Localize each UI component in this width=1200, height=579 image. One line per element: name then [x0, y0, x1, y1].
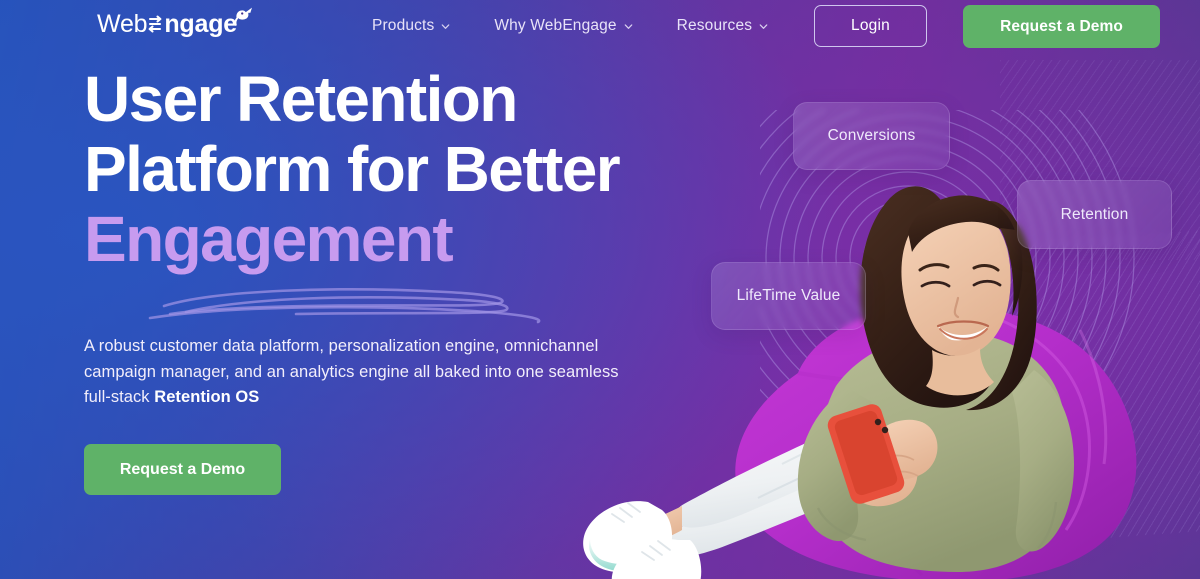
- conversions-card-label: Conversions: [828, 127, 916, 145]
- headline-line-2: Platform for Better: [84, 133, 619, 205]
- scribble-underline-decoration: [146, 282, 566, 328]
- main-navigation: Products Why WebEngage Resources: [372, 0, 768, 52]
- headline-accent-line: Engagement: [84, 204, 724, 274]
- request-demo-hero-button[interactable]: Request a Demo: [84, 444, 281, 495]
- logo-ngage-text: ngage: [164, 10, 237, 38]
- hero-subcopy: A robust customer data platform, persona…: [84, 334, 624, 411]
- headline-line-1: User Retention: [84, 63, 517, 135]
- nav-label-products: Products: [372, 17, 434, 35]
- lifetime-value-card[interactable]: LifeTime Value: [711, 262, 866, 330]
- retention-card[interactable]: Retention: [1017, 180, 1172, 249]
- chevron-down-icon: [759, 22, 768, 31]
- woman-head: [860, 186, 1037, 410]
- nav-item-why-webengage[interactable]: Why WebEngage: [494, 17, 632, 35]
- retention-card-label: Retention: [1061, 206, 1129, 224]
- webengage-logo[interactable]: Web ngage: [97, 9, 237, 39]
- logo-e-arrows-icon: [148, 13, 163, 35]
- nav-item-resources[interactable]: Resources: [677, 17, 768, 35]
- hero-section: Web ngage Products: [0, 0, 1200, 579]
- login-button[interactable]: Login: [814, 5, 927, 47]
- chevron-down-icon: [441, 22, 450, 31]
- request-demo-header-button[interactable]: Request a Demo: [963, 5, 1160, 48]
- lifetime-value-card-label: LifeTime Value: [737, 287, 841, 305]
- site-header: Web ngage Products: [0, 0, 1200, 52]
- nav-label-resources: Resources: [677, 17, 752, 35]
- nav-item-products[interactable]: Products: [372, 17, 450, 35]
- hero-copy-block: User Retention Platform for Better Engag…: [84, 64, 724, 274]
- chevron-down-icon: [624, 22, 633, 31]
- page-title: User Retention Platform for Better Engag…: [84, 64, 724, 274]
- subcopy-bold-text: Retention OS: [154, 388, 259, 406]
- logo-web-text: Web: [97, 10, 147, 38]
- bird-icon: [231, 5, 255, 27]
- nav-label-why-webengage: Why WebEngage: [494, 17, 616, 35]
- conversions-card[interactable]: Conversions: [793, 102, 950, 170]
- logo-wordmark: Web ngage: [97, 9, 237, 39]
